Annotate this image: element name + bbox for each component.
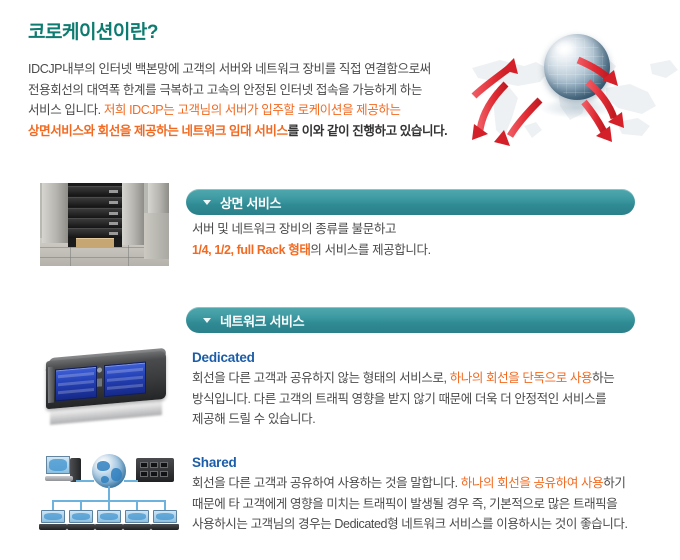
body-segment: 의 서비스를 제공합니다.	[310, 243, 430, 257]
section-bar-label: 상면 서비스	[220, 193, 281, 212]
intro-segment: IDCJP내부의 인터넷 백본망에 고객의 서버와 네트워크 장비를 직접 연결…	[28, 62, 431, 76]
page-title: 코로케이션이란?	[28, 17, 158, 44]
laptop-icon	[97, 510, 121, 530]
colocation-page: 코로케이션이란? IDCJP내부의 인터넷 백본망에 고객의 서버와 네트워크 …	[0, 0, 680, 560]
intro-line: 전용회선의 대역폭 한계를 극복하고 고속의 안정된 인터넷 접속을 가능하게 …	[28, 80, 458, 101]
body-segment: 회선을 다른 고객과 공유하여 사용하는 것을 말합니다.	[192, 476, 461, 490]
intro-segment-highlight: 저희 IDCJP는 고객님의 서버가 입주할 로케이션을 제공하는	[104, 103, 401, 117]
data-center-server-rack-photo	[40, 183, 169, 266]
connection-line	[124, 480, 138, 482]
body-line: 사용하시는 고객님의 경우는 Dedicated형 네트워크 서비스를 이용하시…	[192, 514, 662, 535]
globe-artwork	[466, 8, 680, 176]
body-line: 회선을 다른 고객과 공유하여 사용하는 것을 말합니다. 하나의 회선을 공유…	[192, 473, 662, 494]
network-switch-icon	[136, 458, 174, 482]
laptop-icon	[69, 510, 93, 530]
colocation-space-body: 서버 및 네트워크 장비의 종류를 불문하고 1/4, 1/2, full Ra…	[192, 219, 632, 260]
body-line: 1/4, 1/2, full Rack 형태의 서비스를 제공합니다.	[192, 240, 632, 261]
intro-segment: 서비스 입니다.	[28, 103, 104, 117]
intro-line: IDCJP내부의 인터넷 백본망에 고객의 서버와 네트워크 장비를 직접 연결…	[28, 59, 458, 80]
body-segment-highlight: 1/4, 1/2, full Rack 형태	[192, 243, 310, 257]
intro-segment: 를 이와 같이 진행하고 있습니다.	[288, 124, 448, 138]
connection-line	[108, 486, 110, 500]
network-topology-diagram	[36, 450, 181, 535]
body-segment: 사용하시는 고객님의 경우는 Dedicated형 네트워크 서비스를 이용하시…	[192, 517, 628, 531]
body-line: 방식입니다. 다른 고객의 트래픽 영향을 받지 않기 때문에 더욱 더 안정적…	[192, 389, 642, 410]
laptop-icon	[153, 510, 177, 530]
shared-body: 회선을 다른 고객과 공유하여 사용하는 것을 말합니다. 하나의 회선을 공유…	[192, 473, 662, 535]
section-bar-colocation-space[interactable]: 상면 서비스	[186, 189, 635, 215]
server-cabinet	[122, 183, 144, 245]
chevron-down-icon	[203, 200, 211, 205]
section-bar-label: 네트워크 서비스	[220, 311, 304, 330]
cardboard-box	[76, 238, 114, 248]
connection-line	[164, 500, 166, 510]
body-line: 제공해 드릴 수 있습니다.	[192, 409, 642, 430]
status-led	[97, 378, 102, 386]
body-line: 때문에 타 고객에게 영향을 미치는 트래픽이 발생될 경우 즉, 기본적으로 …	[192, 494, 662, 515]
intro-segment-highlight: 상면서비스와 회선을 제공하는 네트워크 임대 서비스	[28, 124, 288, 138]
intro-paragraph: IDCJP내부의 인터넷 백본망에 고객의 서버와 네트워크 장비를 직접 연결…	[28, 59, 458, 141]
body-segment: 하기	[603, 476, 625, 490]
connection-line	[108, 500, 110, 510]
connection-line	[80, 500, 82, 510]
globe-icon	[92, 454, 126, 488]
section-bar-network-service[interactable]: 네트워크 서비스	[186, 307, 635, 333]
subsection-heading-shared: Shared	[192, 455, 237, 470]
body-line: 회선을 다른 고객과 공유하지 않는 형태의 서비스로, 하나의 회선을 단독으…	[192, 368, 642, 389]
intro-line: 서비스 입니다. 저희 IDCJP는 고객님의 서버가 입주할 로케이션을 제공…	[28, 100, 458, 121]
body-segment: 제공해 드릴 수 있습니다.	[192, 412, 315, 426]
rackmount-server-photo	[40, 348, 175, 426]
chevron-down-icon	[203, 318, 211, 323]
drive-bay	[55, 366, 97, 402]
body-segment: 서버 및 네트워크 장비의 종류를 불문하고	[192, 222, 396, 236]
power-button	[97, 367, 102, 372]
dedicated-body: 회선을 다른 고객과 공유하지 않는 형태의 서비스로, 하나의 회선을 단독으…	[192, 368, 642, 430]
drive-bay	[104, 362, 146, 398]
body-segment: 회선을 다른 고객과 공유하지 않는 형태의 서비스로,	[192, 371, 450, 385]
laptop-icon	[125, 510, 149, 530]
red-arrows-icon	[466, 8, 680, 176]
intro-segment: 전용회선의 대역폭 한계를 극복하고 고속의 안정된 인터넷 접속을 가능하게 …	[28, 83, 422, 97]
laptop-icon	[41, 510, 65, 530]
server-cabinet	[42, 183, 68, 243]
body-segment: 하는	[592, 371, 614, 385]
connection-line	[136, 500, 138, 510]
body-line: 서버 및 네트워크 장비의 종류를 불문하고	[192, 219, 632, 240]
server-cabinet	[144, 213, 169, 259]
server-rack-ear	[48, 367, 54, 404]
body-segment: 방식입니다. 다른 고객의 트래픽 영향을 받지 않기 때문에 더욱 더 안정적…	[192, 392, 606, 406]
body-segment: 때문에 타 고객에게 영향을 미치는 트래픽이 발생될 경우 즉, 기본적으로 …	[192, 497, 617, 511]
connection-line	[52, 500, 54, 510]
body-segment-highlight: 하나의 회선을 단독으로 사용	[450, 371, 592, 385]
intro-line: 상면서비스와 회선을 제공하는 네트워크 임대 서비스를 이와 같이 진행하고 …	[28, 121, 458, 142]
connection-line	[76, 480, 94, 482]
body-segment-highlight: 하나의 회선을 공유하여 사용	[461, 476, 603, 490]
subsection-heading-dedicated: Dedicated	[192, 350, 255, 365]
